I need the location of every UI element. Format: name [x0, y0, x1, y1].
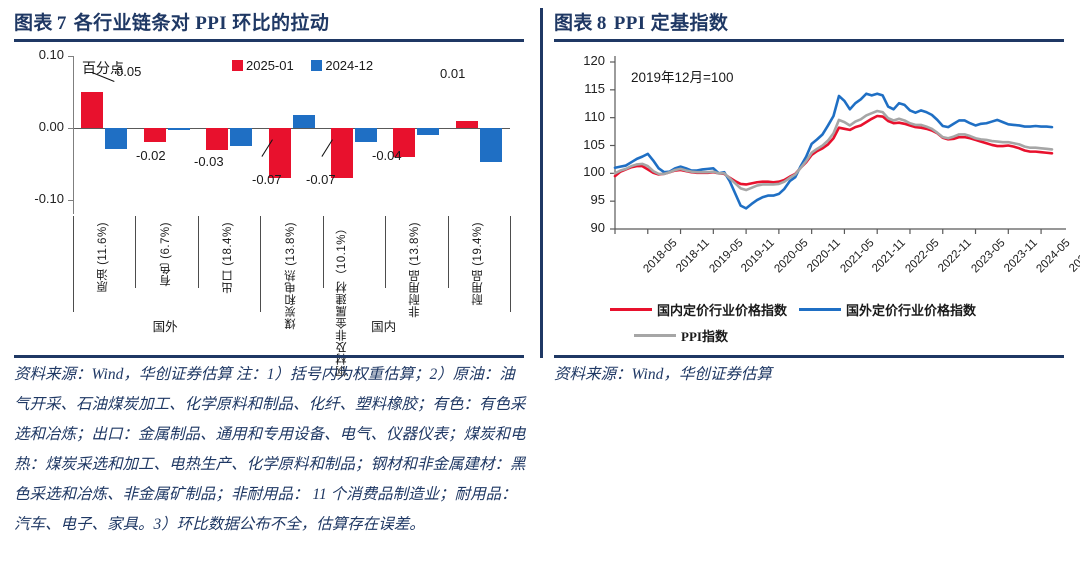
- chart-7-data-label: 0.05: [116, 64, 141, 79]
- figure-8-title: 图表8PPI 定基指数: [554, 8, 728, 35]
- figure-7-title-rule: [14, 39, 524, 42]
- chart-7-group-separator: [260, 216, 261, 312]
- chart-7-bar-2025-01: [144, 128, 166, 142]
- figure-8-title-text: PPI 定基指数: [614, 13, 729, 34]
- chart-7-group-separator: [73, 216, 74, 312]
- figure-8-source: 资料来源：Wind，华创证券估算: [554, 360, 1066, 390]
- chart-7-bar-2024-12: [480, 128, 502, 162]
- chart-7-legend: 2025-01 2024-12: [232, 58, 387, 73]
- chart-7-y-tick: [68, 200, 74, 201]
- chart-7-y-tick-label: 0.00: [18, 119, 64, 134]
- chart-7-category-separator: [135, 216, 136, 288]
- legend-item-2024-12: 2024-12: [311, 58, 373, 73]
- chart-7-category-label: 有色 (6.7%): [158, 222, 174, 287]
- chart-8-legend-line-swatch: [799, 308, 841, 311]
- chart-7-group-separator: [510, 216, 511, 312]
- figure-7-source: 资料来源：Wind，华创证券估算 注：1）括号内为权重估算；2）原油：油气开采、…: [14, 360, 526, 540]
- legend-item-2025-01: 2025-01: [232, 58, 294, 73]
- chart-8-legend-row: PPI指数: [634, 326, 988, 345]
- legend-label-2025-01: 2025-01: [246, 58, 294, 73]
- chart-8-legend-item-国内定价行业价格指数: 国内定价行业价格指数: [610, 300, 787, 319]
- chart-8-legend-label: PPI指数: [681, 329, 728, 344]
- figure-8-bottom-rule: [554, 355, 1064, 358]
- chart-7-bar-2024-12: [293, 115, 315, 128]
- legend-label-2024-12: 2024-12: [325, 58, 373, 73]
- legend-swatch-red: [232, 60, 243, 71]
- chart-7-zero-line: [73, 128, 510, 129]
- chart-8-legend-line-swatch: [634, 334, 676, 337]
- chart-8-line-国内定价行业价格指数: [615, 116, 1052, 184]
- figure-7-bottom-rule: [14, 355, 524, 358]
- chart-8-line-国外定价行业价格指数: [615, 94, 1052, 209]
- chart-7-category-label: 原油 (11.6%): [95, 222, 111, 293]
- chart-8-legend-label: 国外定价行业价格指数: [846, 303, 976, 318]
- chart-7-y-tick: [68, 128, 74, 129]
- figure-7-label: 图表: [14, 13, 53, 34]
- figure-7-title: 图表7各行业链条对 PPI 环比的拉动: [14, 8, 329, 35]
- chart-7-category-label: 非耐用品 (13.8%): [407, 222, 423, 317]
- chart-7-plot: 百分点 2025-01 2024-12 0.100.00-0.100.05-0.…: [0, 44, 540, 352]
- chart-7-group-label: 国外: [153, 316, 178, 335]
- chart-7-category-separator: [448, 216, 449, 288]
- chart-8-legend-label: 国内定价行业价格指数: [657, 303, 787, 318]
- chart-7-data-label: -0.07: [306, 172, 336, 187]
- chart-8-legend-item-PPI指数: PPI指数: [634, 326, 728, 345]
- chart-8-plot: 2019年12月=100 90951001051101151202018-052…: [540, 44, 1080, 354]
- chart-7-y-tick-label: -0.10: [18, 191, 64, 206]
- chart-7-bar-2024-12: [355, 128, 377, 142]
- chart-7-y-axis: [73, 56, 74, 214]
- chart-7-group-label: 国内: [371, 316, 396, 335]
- chart-7-y-tick-label: 0.10: [18, 47, 64, 62]
- figure-page: 图表7各行业链条对 PPI 环比的拉动 百分点 2025-01 2024-12 …: [0, 0, 1080, 578]
- chart-7-bar-2024-12: [105, 128, 127, 149]
- chart-8-legend-line-swatch: [610, 308, 652, 311]
- chart-7-bar-2025-01: [269, 128, 291, 178]
- chart-7-category-separator: [198, 216, 199, 288]
- chart-7-bar-2025-01: [456, 121, 478, 128]
- figure-8-number: 8: [593, 13, 614, 34]
- chart-7-bar-2024-12: [230, 128, 252, 146]
- chart-8-legend-item-国外定价行业价格指数: 国外定价行业价格指数: [799, 300, 976, 319]
- figure-7-title-text: 各行业链条对 PPI 环比的拉动: [74, 13, 330, 34]
- chart-7-category-label: 耐用品 (19.4%): [470, 222, 486, 305]
- chart-7-data-label: -0.02: [136, 148, 166, 163]
- chart-7-category-label: 煤炭和电热 (13.8%): [283, 222, 299, 329]
- chart-7-bar-2024-12: [168, 128, 190, 130]
- chart-7-bar-2024-12: [417, 128, 439, 135]
- figure-8-label: 图表: [554, 13, 593, 34]
- chart-7-data-label: -0.04: [372, 148, 402, 163]
- chart-7-data-label: -0.07: [252, 172, 282, 187]
- legend-swatch-blue: [311, 60, 322, 71]
- chart-7-category-label: 钢材及非金属建材（10.1%）: [334, 222, 350, 377]
- chart-7-y-tick: [68, 56, 74, 57]
- chart-7-category-separator: [323, 216, 324, 288]
- chart-8-svg: [540, 44, 1080, 344]
- chart-7-bar-2025-01: [206, 128, 228, 150]
- chart-7-data-label: 0.01: [440, 66, 465, 81]
- panel-figure-7: 图表7各行业链条对 PPI 环比的拉动 百分点 2025-01 2024-12 …: [0, 0, 540, 578]
- chart-7-bar-2025-01: [331, 128, 353, 178]
- chart-8-legend-row: 国内定价行业价格指数国外定价行业价格指数: [610, 300, 988, 319]
- figure-8-title-rule: [554, 39, 1064, 42]
- chart-7-category-separator: [385, 216, 386, 288]
- chart-7-data-label: -0.03: [194, 154, 224, 169]
- chart-8-legend: 国内定价行业价格指数国外定价行业价格指数PPI指数: [610, 300, 988, 352]
- figure-7-number: 7: [53, 13, 74, 34]
- chart-7-bar-2025-01: [81, 92, 103, 128]
- chart-7-category-label: 出口 (18.4%): [220, 222, 236, 293]
